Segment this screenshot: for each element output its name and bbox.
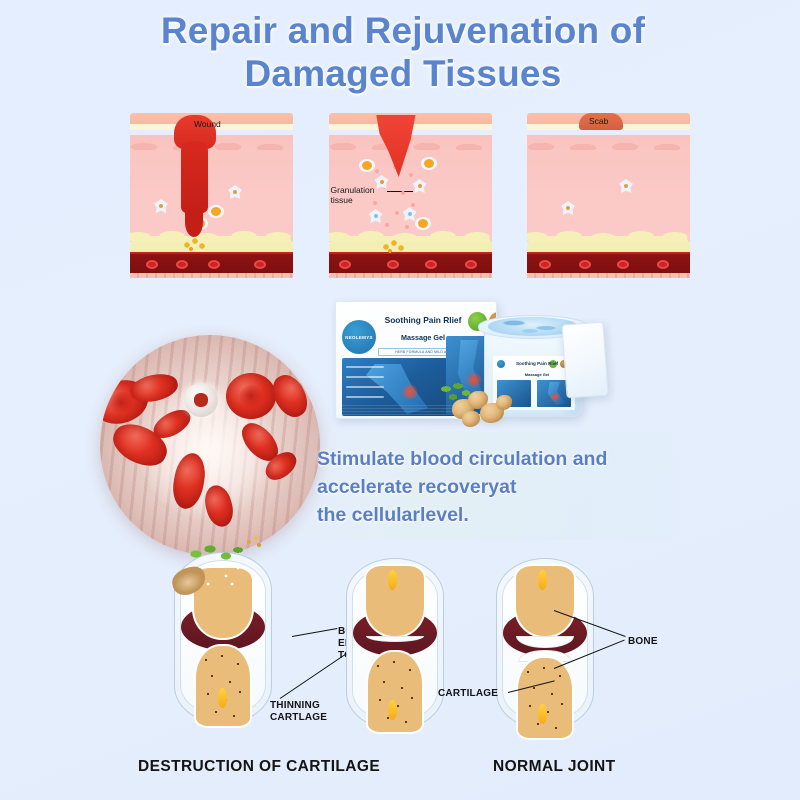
bone-marrow xyxy=(538,570,547,590)
granulation-label-line-2: tissue xyxy=(331,195,375,205)
joint-diagram-normal xyxy=(490,554,600,734)
blood-vessel-layer xyxy=(527,252,690,274)
ginger-root-cluster xyxy=(450,389,520,429)
wound-stage-label-1: Wound xyxy=(194,119,221,129)
highlight-line-1: Stimulate blood circulation and xyxy=(317,446,677,474)
tissue-base xyxy=(130,273,293,278)
wound-stage-panel-3: Scab xyxy=(527,113,690,278)
jar-label-title: Soothing Pain Rlief xyxy=(513,361,561,366)
jar-lid xyxy=(561,322,608,399)
callout-line-2: CARTLAGE xyxy=(270,712,327,724)
bone-marrow xyxy=(538,704,547,724)
joint-diagram-damaged xyxy=(168,548,278,728)
bone-marrow xyxy=(388,570,397,590)
white-blood-cell xyxy=(184,383,218,417)
leader-line xyxy=(292,628,337,637)
callout-line-1: THINNING xyxy=(270,700,327,712)
highlight-text: Stimulate blood circulation and accelera… xyxy=(317,446,677,530)
callout-bone: BONE xyxy=(628,636,658,648)
macrophage-icon xyxy=(359,159,375,172)
tissue-base xyxy=(329,273,492,278)
product-box-title: Soothing Pain Rlief xyxy=(380,316,466,325)
blood-vessel-layer xyxy=(130,252,293,274)
infographic-canvas: Repair and Rejuvenation of Damaged Tissu… xyxy=(0,0,800,800)
page-title-line-1: Repair and Rejuvenation of xyxy=(0,10,800,53)
wound-stage-label-3: Scab xyxy=(589,116,608,126)
caption-normal-joint: NORMAL JOINT xyxy=(493,758,616,776)
bone-marrow xyxy=(218,688,227,708)
joint-comparison: BONE ENDS RUB TOGETHER THINNING CARTLAGE xyxy=(150,548,670,733)
granulation-label-line-1: Granulation xyxy=(331,185,375,195)
jar-label-subtitle: Massage Gel xyxy=(513,372,561,377)
tissue-base xyxy=(527,273,690,278)
wound-healing-stages: Wound Granulation xyxy=(130,113,690,278)
highlight-line-2: accelerate recoveryat xyxy=(317,474,677,502)
clot-icon xyxy=(381,239,407,253)
brand-badge: NEOLEMYS xyxy=(342,320,376,354)
page-title-line-2: Damaged Tissues xyxy=(0,53,800,96)
macrophage-icon xyxy=(421,157,437,170)
wound-stage-panel-1: Wound xyxy=(130,113,293,278)
blood-cells-microscope-image xyxy=(100,335,320,555)
tibia-bone xyxy=(516,656,574,740)
jar-brand-dot xyxy=(497,360,505,368)
joint-diagram-thinning xyxy=(340,554,450,734)
wound-stage-panel-2: Granulation tissue xyxy=(329,113,492,278)
caption-destruction-of-cartilage: DESTRUCTION OF CARTILAGE xyxy=(138,758,380,776)
highlight-line-3: the cellularlevel. xyxy=(317,502,677,530)
tibia-bone xyxy=(194,644,252,728)
bone-marrow xyxy=(388,700,397,720)
wound-stage-label-2: Granulation tissue xyxy=(331,185,375,205)
page-title: Repair and Rejuvenation of Damaged Tissu… xyxy=(0,10,800,96)
callout-cartilage: CARTILAGE xyxy=(438,688,498,700)
clot-icon xyxy=(182,237,208,251)
wound-gash-shape xyxy=(174,115,216,243)
leader-line xyxy=(280,653,347,699)
gold-grain-icon xyxy=(244,534,264,550)
blood-vessel-layer xyxy=(329,252,492,274)
callout-thinning-cartilage: THINNING CARTLAGE xyxy=(270,700,327,724)
product-shot: NEOLEMYS Soothing Pain Rlief Massage Gel… xyxy=(330,293,650,443)
macrophage-icon xyxy=(415,217,431,230)
dermis-layer xyxy=(527,135,690,242)
red-blood-cell xyxy=(226,373,276,419)
tibia-bone xyxy=(366,650,424,734)
